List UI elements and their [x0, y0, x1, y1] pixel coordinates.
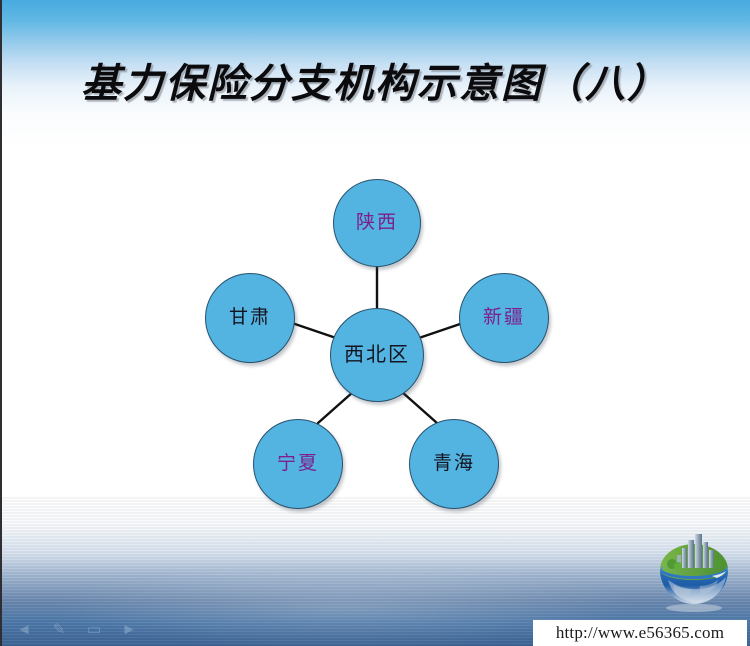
- diagram-node-label: 甘肃: [229, 308, 271, 327]
- pen-tool-button[interactable]: ✎: [49, 623, 69, 638]
- earth-city-globe-logo: [648, 528, 740, 614]
- diagram-node-ningxia[interactable]: 宁夏: [253, 419, 343, 509]
- link-center-to-qinghai: [402, 392, 437, 423]
- website-url-text: http://www.e56365.com: [556, 623, 724, 643]
- slideshow-nav-controls[interactable]: ◄ ✎ ▭ ►: [14, 623, 139, 638]
- diagram-node-label: 新疆: [483, 308, 525, 327]
- link-center-to-xinjiang: [416, 323, 463, 339]
- diagram-node-gansu[interactable]: 甘肃: [205, 273, 295, 363]
- website-url-watermark: http://www.e56365.com: [533, 620, 747, 646]
- link-center-to-gansu: [292, 323, 339, 339]
- diagram-node-qinghai[interactable]: 青海: [409, 419, 499, 509]
- diagram-node-shaanxi[interactable]: 陕西: [333, 179, 421, 267]
- diagram-node-center-northwest-region[interactable]: 西北区: [330, 308, 424, 402]
- diagram-node-label: 青海: [433, 454, 475, 473]
- diagram-center-label: 西北区: [344, 345, 410, 364]
- org-structure-diagram: 陕西 甘肃 新疆 宁夏 青海 西北区: [0, 0, 750, 646]
- diagram-node-xinjiang[interactable]: 新疆: [459, 273, 549, 363]
- previous-slide-button[interactable]: ◄: [14, 623, 34, 638]
- slide-menu-button[interactable]: ▭: [84, 623, 104, 638]
- link-center-to-ningxia: [318, 392, 353, 423]
- diagram-node-label: 宁夏: [277, 454, 319, 473]
- presentation-slide: 基力保险分支机构示意图（八） 陕西 甘肃 新疆 宁夏 青海: [0, 0, 750, 646]
- diagram-node-label: 陕西: [356, 213, 398, 232]
- next-slide-button[interactable]: ►: [119, 623, 139, 638]
